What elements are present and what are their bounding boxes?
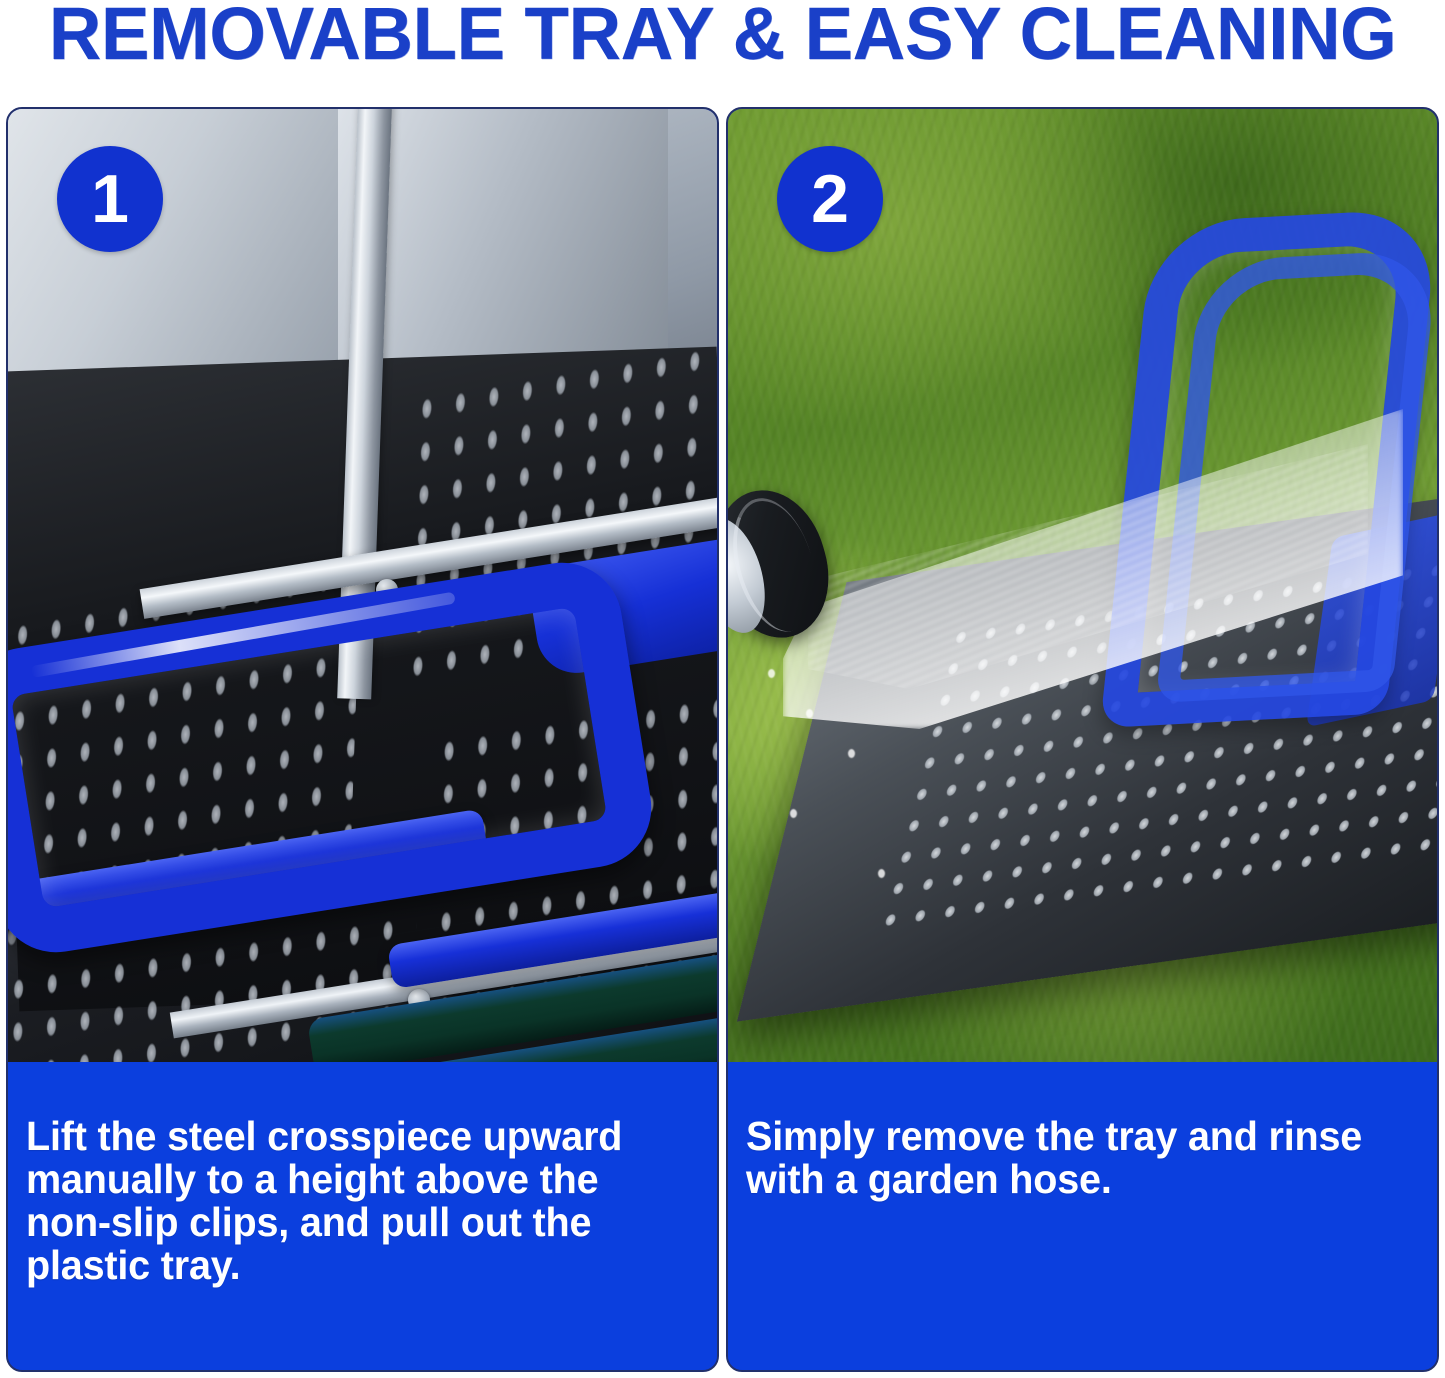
water-droplet (878, 869, 885, 878)
water-droplet (806, 709, 813, 718)
step-1-caption-box: Lift the steel crosspiece upward manuall… (8, 1062, 717, 1370)
step-1-photo: 1 (8, 109, 717, 1066)
water-droplet (848, 749, 855, 758)
water-droplet (790, 809, 797, 818)
step-1-caption-text: Lift the steel crosspiece upward manuall… (26, 1115, 679, 1287)
step-2-caption-text: Simply remove the tray and rinse with a … (746, 1115, 1399, 1201)
page-title: REMOVABLE TRAY & EASY CLEANING (11, 0, 1434, 78)
step-2-photo: 2 (728, 109, 1437, 1066)
step-badge-2: 2 (777, 146, 883, 252)
step-panel-1: 1 Lift the steel crosspiece upward manua… (6, 107, 719, 1372)
water-droplet (768, 669, 775, 678)
step-panel-2: 2 Simply remove the tray and rinse with … (726, 107, 1439, 1372)
step-badge-1: 1 (57, 146, 163, 252)
step-2-caption-box: Simply remove the tray and rinse with a … (728, 1062, 1437, 1370)
steps-container: 1 Lift the steel crosspiece upward manua… (0, 104, 1445, 1376)
